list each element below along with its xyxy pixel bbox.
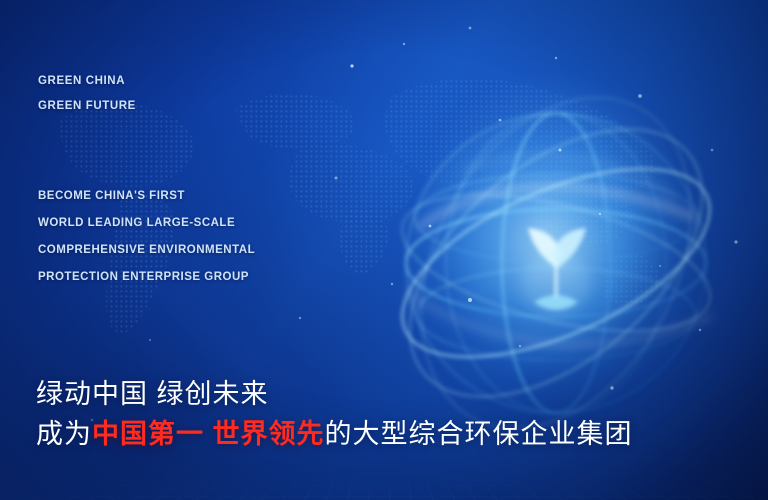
english-tagline-line-1: GREEN CHINA [38,69,136,94]
chinese-headline: 绿动中国 绿创未来 成为中国第一 世界领先的大型综合环保企业集团 [36,374,633,454]
english-tagline-line-2: GREEN FUTURE [38,94,136,119]
chinese-headline-line-1: 绿动中国 绿创未来 [36,374,633,414]
english-tagline-top: GREEN CHINA GREEN FUTURE [38,69,136,119]
english-statement: BECOME CHINA'S FIRST WORLD LEADING LARGE… [38,183,255,291]
chinese-headline-line-2: 成为中国第一 世界领先的大型综合环保企业集团 [36,414,633,454]
english-statement-line-4: PROTECTION ENTERPRISE GROUP [38,264,255,291]
english-statement-line-1: BECOME CHINA'S FIRST [38,183,255,210]
chinese-headline-prefix: 成为 [36,419,92,449]
english-statement-line-3: COMPREHENSIVE ENVIRONMENTAL [38,237,255,264]
chinese-headline-suffix: 的大型综合环保企业集团 [325,419,633,449]
chinese-headline-highlight: 中国第一 世界领先 [92,419,325,449]
english-statement-line-2: WORLD LEADING LARGE-SCALE [38,210,255,237]
banner-image: GREEN CHINA GREEN FUTURE BECOME CHINA'S … [0,0,768,500]
